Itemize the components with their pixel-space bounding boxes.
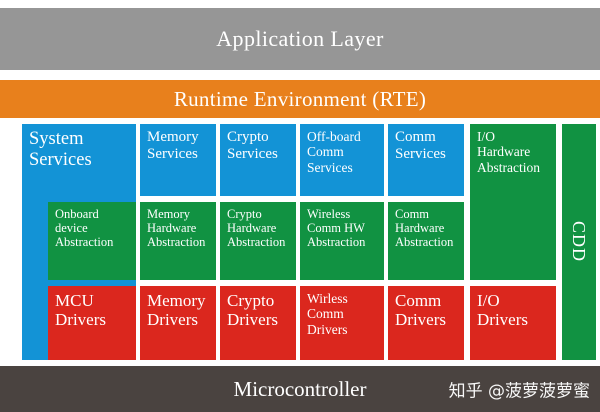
block-wireless-comm-hw-abstraction: Wireless Comm HW Abstraction (300, 202, 384, 280)
basic-software-layer: System Services Memory Services Crypto S… (0, 122, 600, 362)
block-io-hardware-abstraction: I/O Hardware Abstraction (470, 124, 556, 280)
block-comm-services: Comm Services (388, 124, 464, 196)
block-onboard-device-abstraction: Onboard device Abstraction (48, 202, 136, 280)
autosar-layered-architecture-diagram: Application Layer Runtime Environment (R… (0, 0, 600, 412)
watermark-label: 知乎 @菠萝菠萝蜜 (449, 377, 590, 402)
block-crypto-drivers: Crypto Drivers (220, 286, 296, 360)
block-memory-drivers: Memory Drivers (140, 286, 216, 360)
application-layer-bar: Application Layer (0, 8, 600, 70)
application-layer-label: Application Layer (216, 26, 383, 52)
block-crypto-hardware-abstraction: Crypto Hardware Abstraction (220, 202, 296, 280)
block-comm-hardware-abstraction: Comm Hardware Abstraction (388, 202, 464, 280)
block-wirless-comm-drivers: Wirless Comm Drivers (300, 286, 384, 360)
block-off-board-comm-services: Off-board Comm Services (300, 124, 384, 196)
rte-layer-label: Runtime Environment (RTE) (174, 87, 426, 112)
block-cdd-label: CDD (569, 221, 589, 262)
block-memory-services: Memory Services (140, 124, 216, 196)
block-io-drivers: I/O Drivers (470, 286, 556, 360)
block-crypto-services: Crypto Services (220, 124, 296, 196)
block-system-services-label: System Services (29, 129, 135, 171)
block-comm-drivers: Comm Drivers (388, 286, 464, 360)
microcontroller-layer-bar: Microcontroller 知乎 @菠萝菠萝蜜 (0, 366, 600, 412)
block-memory-hardware-abstraction: Memory Hardware Abstraction (140, 202, 216, 280)
rte-layer-bar: Runtime Environment (RTE) (0, 80, 600, 118)
block-cdd: CDD (562, 124, 596, 360)
block-mcu-drivers: MCU Drivers (48, 286, 136, 360)
block-cdd-label-wrap: CDD (562, 124, 596, 360)
